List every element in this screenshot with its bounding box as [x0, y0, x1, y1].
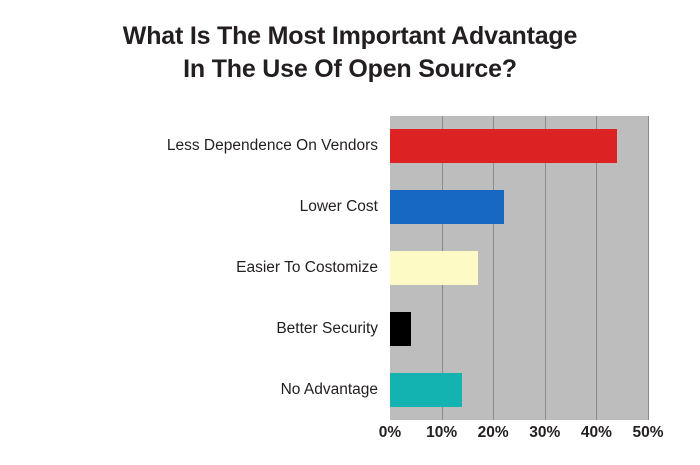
x-tick-label: 10% [426, 424, 457, 442]
category-label-better-security: Better Security [276, 320, 378, 338]
x-tick-label: 30% [529, 424, 560, 442]
x-tick-label: 0% [379, 424, 401, 442]
category-axis: Less Dependence On Vendors Lower Cost Ea… [60, 116, 378, 420]
bar-easier-to-costomize [390, 251, 478, 285]
x-tick-label: 40% [581, 424, 612, 442]
bar-chart: What Is The Most Important Advantage In … [0, 0, 700, 465]
category-axis-band: Less Dependence On Vendors [60, 116, 378, 177]
bar-row [390, 238, 648, 299]
x-tick-label: 20% [478, 424, 509, 442]
category-axis-band: No Advantage [60, 359, 378, 420]
bar-row [390, 177, 648, 238]
category-label-lower-cost: Lower Cost [300, 198, 378, 216]
category-label-no-advantage: No Advantage [281, 381, 378, 399]
bar-row [390, 116, 648, 177]
category-label-easier-to-costomize: Easier To Costomize [236, 259, 378, 277]
bar-no-advantage [390, 373, 462, 407]
bar-better-security [390, 312, 411, 346]
bar-row [390, 298, 648, 359]
gridline [648, 116, 649, 420]
category-axis-band: Easier To Costomize [60, 238, 378, 299]
category-axis-band: Better Security [60, 298, 378, 359]
plot-area [390, 116, 648, 420]
category-label-less-dependence-on-vendors: Less Dependence On Vendors [167, 137, 378, 155]
value-axis: 0%10%20%30%40%50% [390, 424, 648, 448]
category-axis-band: Lower Cost [60, 177, 378, 238]
bars-layer [390, 116, 648, 420]
page-title: What Is The Most Important Advantage In … [0, 20, 700, 86]
bar-lower-cost [390, 190, 504, 224]
x-tick-label: 50% [632, 424, 663, 442]
bar-less-dependence-on-vendors [390, 129, 617, 163]
bar-row [390, 359, 648, 420]
